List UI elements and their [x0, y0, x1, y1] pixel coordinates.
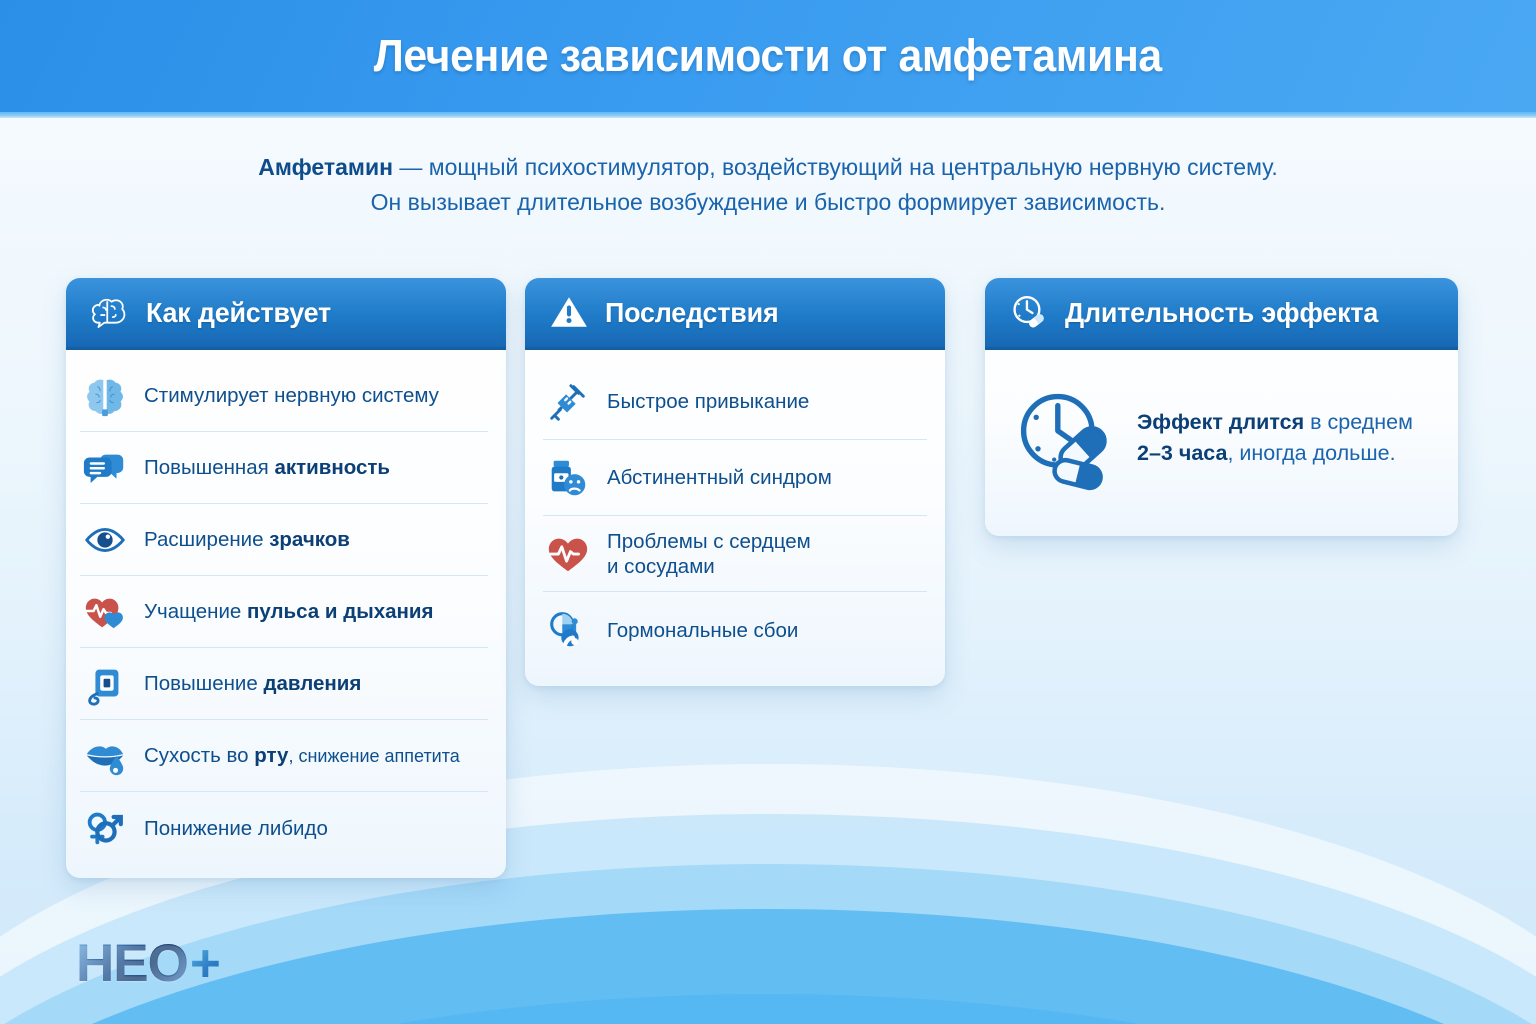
brain-icon — [80, 371, 130, 421]
list-item-label: Понижение либидо — [144, 816, 328, 841]
list-item: Учащение пульса и дыхания — [80, 576, 488, 648]
infographic-poster: Лечение зависимости от амфетамина Амфета… — [0, 0, 1536, 1024]
clock-pills-icon — [1007, 291, 1051, 335]
logo-text: НЕО — [76, 933, 188, 994]
card-how-header: Как действует — [66, 278, 506, 350]
list-item-label: Повышение давления — [144, 671, 361, 696]
background-wave-4 — [0, 909, 1536, 1024]
card-how-title: Как действует — [146, 297, 331, 329]
background-wave-3 — [0, 864, 1536, 1024]
header-banner: Лечение зависимости от амфетамина — [0, 0, 1536, 112]
speech-bubbles-icon — [80, 443, 130, 493]
card-consequences-header: Последствия — [525, 278, 945, 350]
heart-pulse-icon — [543, 529, 593, 579]
card-how-it-works: Как действует Стимулирует нервную систем… — [66, 278, 506, 878]
card-duration-body: Эффект длится в среднем 2–3 часа, иногда… — [985, 350, 1458, 536]
card-how-body: Стимулирует нервную систему Повышенная а — [66, 350, 506, 878]
list-item: Сухость во рту, снижение аппетита — [80, 720, 488, 792]
intro-text: Амфетамин — мощный психостимулятор, возд… — [0, 150, 1536, 220]
blood-pressure-icon — [80, 659, 130, 709]
list-item: Проблемы с сердцем и сосудами — [543, 516, 927, 592]
brain-icon — [88, 291, 132, 335]
list-item-label: Расширение зрачков — [144, 527, 350, 552]
list-item-label: Стимулирует нервную систему — [144, 383, 439, 408]
list-item-label: Абстинентный синдром — [607, 465, 832, 490]
card-consequences: Последствия — [525, 278, 945, 686]
card-consequences-body: Быстрое привыкание Абстинентный с — [525, 350, 945, 686]
list-item-label: Сухость во рту, снижение аппетита — [144, 743, 460, 768]
intro-keyword: Амфетамин — [258, 154, 393, 180]
pill-bottle-sad-icon — [543, 453, 593, 503]
list-item: Гормональные сбои — [543, 592, 927, 668]
logo-plus-icon: + — [190, 933, 221, 994]
eye-icon — [80, 515, 130, 565]
duration-text-strong: 2–3 часа — [1137, 441, 1227, 465]
list-item: Повышение давления — [80, 648, 488, 720]
clock-pills-large-icon — [1011, 384, 1119, 492]
card-duration: Длительность эффекта Эффект длится в — [985, 278, 1458, 536]
list-item: Стимулирует нервную систему — [80, 360, 488, 432]
hormones-molecule-icon — [543, 605, 593, 655]
background-wave-5 — [0, 994, 1536, 1024]
list-item-label: Быстрое привыкание — [607, 389, 809, 414]
list-item: Быстрое привыкание — [543, 364, 927, 440]
list-item-label: Повышенная активность — [144, 455, 390, 480]
list-item: Абстинентный синдром — [543, 440, 927, 516]
list-item: Повышенная активность — [80, 432, 488, 504]
list-item-label: Учащение пульса и дыхания — [144, 599, 433, 624]
list-item-label: Проблемы с сердцем и сосудами — [607, 529, 811, 579]
gender-symbols-icon — [80, 803, 130, 853]
intro-line-1-rest: — мощный психостимулятор, воздействующий… — [393, 154, 1278, 180]
card-duration-title: Длительность эффекта — [1065, 297, 1378, 329]
list-item: Понижение либидо — [80, 792, 488, 864]
lips-drop-icon — [80, 731, 130, 781]
page-title: Лечение зависимости от амфетамина — [374, 30, 1162, 82]
heartbeat-icon — [80, 587, 130, 637]
card-consequences-title: Последствия — [605, 297, 778, 329]
duration-text-post: , иногда дольше. — [1227, 441, 1395, 465]
list-item: Расширение зрачков — [80, 504, 488, 576]
duration-text: Эффект длится в среднем 2–3 часа, иногда… — [1137, 407, 1413, 469]
warning-triangle-icon — [547, 291, 591, 335]
duration-text-lead: Эффект длится — [1137, 410, 1310, 434]
duration-text-mid: в среднем — [1310, 410, 1413, 434]
brand-logo: НЕО + — [76, 933, 221, 994]
intro-line-1: Амфетамин — мощный психостимулятор, возд… — [0, 150, 1536, 185]
card-duration-header: Длительность эффекта — [985, 278, 1458, 350]
syringe-icon — [543, 377, 593, 427]
intro-line-2: Он вызывает длительное возбуждение и быс… — [0, 185, 1536, 220]
header-underline — [0, 112, 1536, 118]
list-item-label: Гормональные сбои — [607, 618, 798, 643]
